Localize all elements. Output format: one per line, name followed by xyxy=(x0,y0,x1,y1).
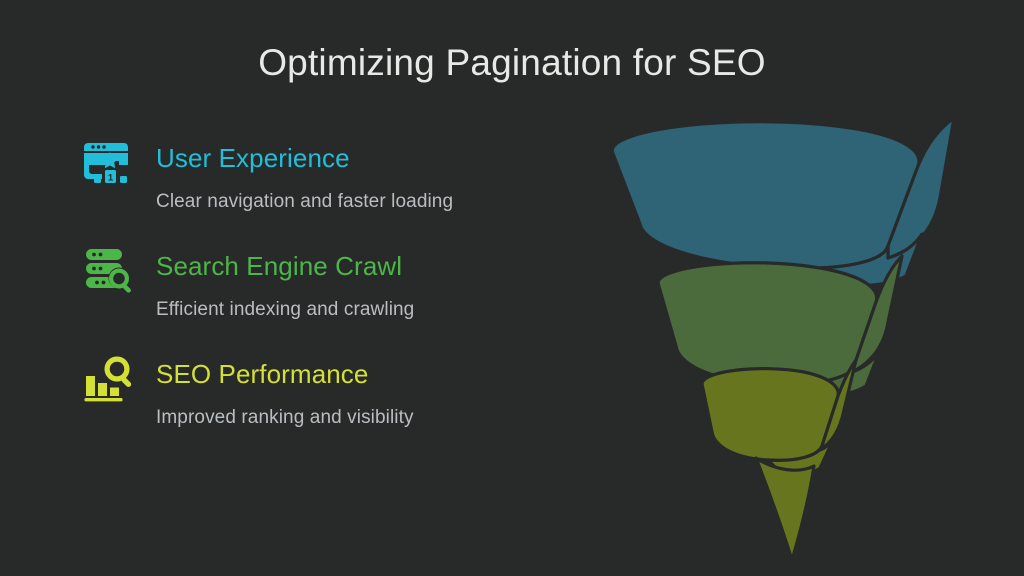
feature-heading: SEO Performance xyxy=(156,347,584,391)
funnel-segment-olive xyxy=(702,360,856,560)
server-search-icon xyxy=(84,245,136,297)
feature-description: Efficient indexing and crawling xyxy=(156,283,584,321)
feature-description: Clear navigation and faster loading xyxy=(156,175,584,213)
feature-list: 1 User Experience Clear navigation and f… xyxy=(84,131,584,455)
browser-star-rank-icon: 1 xyxy=(84,137,136,189)
feature-description: Improved ranking and visibility xyxy=(156,391,584,429)
feature-item-seo-performance[interactable]: SEO Performance Improved ranking and vis… xyxy=(84,347,584,455)
feature-item-user-experience[interactable]: 1 User Experience Clear navigation and f… xyxy=(84,131,584,239)
feature-item-search-engine-crawl[interactable]: Search Engine Crawl Efficient indexing a… xyxy=(84,239,584,347)
bar-chart-search-icon xyxy=(84,353,136,405)
feature-heading: User Experience xyxy=(156,131,584,175)
page-title: Optimizing Pagination for SEO xyxy=(0,41,1024,85)
slide-canvas: Optimizing Pagination for SEO xyxy=(0,0,1024,576)
feature-heading: Search Engine Crawl xyxy=(156,239,584,283)
funnel-segment-teal xyxy=(612,118,954,286)
spiral-funnel-graphic xyxy=(588,108,980,574)
svg-text:1: 1 xyxy=(108,173,114,184)
